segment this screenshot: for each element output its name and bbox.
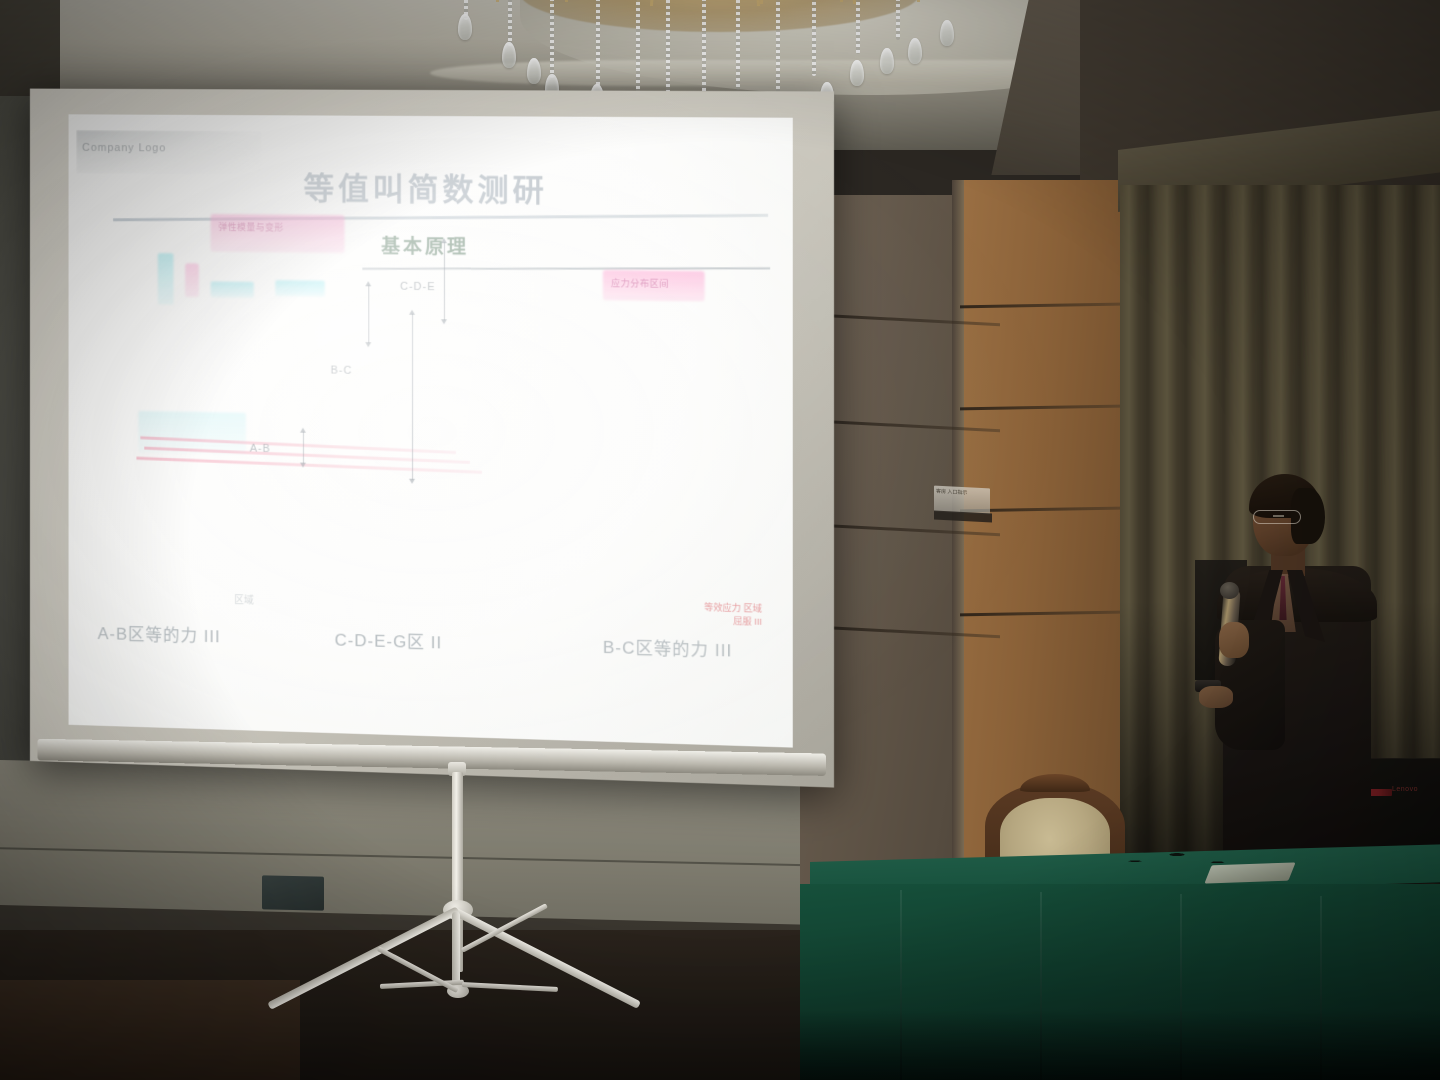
dim-arrow-side xyxy=(368,285,369,343)
slide-subtitle-rule xyxy=(362,267,770,269)
footer-red-line-2: 屈服 III xyxy=(704,614,762,629)
diagram-bar-pink xyxy=(185,263,199,297)
presenter xyxy=(1195,470,1395,890)
presenter-hand-holding-mic xyxy=(1219,622,1249,658)
dim-label-bc: B-C xyxy=(331,365,353,377)
slide-title: 等值叫简数测研 xyxy=(69,162,793,213)
projection-screen-surface[interactable]: Company Logo 等值叫简数测研 基本原理 弹性模量与变形 应力分布区间 xyxy=(69,114,793,747)
chandelier-arm xyxy=(496,0,568,2)
chandelier-crystal xyxy=(908,38,922,64)
chandelier-bead-strand xyxy=(596,0,600,88)
dim-arrow-bc xyxy=(412,314,413,480)
chandelier-bead-strand xyxy=(508,0,512,46)
chandelier-crystal xyxy=(502,42,516,68)
table-shadow xyxy=(800,1010,1440,1080)
projection-screen[interactable]: Company Logo 等值叫简数测研 基本原理 弹性模量与变形 应力分布区间 xyxy=(30,89,834,788)
diagram-bar-cyan xyxy=(211,281,254,297)
footer-item-2: C-D-E-G区 II xyxy=(335,626,443,654)
chandelier-bead-strand xyxy=(896,0,900,40)
chandelier-bead-strand xyxy=(636,0,640,96)
dim-arrow-ab xyxy=(303,432,304,464)
dim-label-ab: A-B xyxy=(250,443,271,455)
wall-outlet-icon xyxy=(262,875,324,910)
wall-sign-text: 客房 入口指示 xyxy=(934,486,990,498)
slide-footer-row: A-B区等的力 III C-D-E-G区 II B-C区等的力 III xyxy=(69,618,793,637)
diagram-bar-cyan xyxy=(158,253,174,305)
footer-red-line-1: 等效应力 区域 xyxy=(704,601,762,616)
slide-logo-text: Company Logo xyxy=(82,142,166,154)
chandelier-crystal xyxy=(850,60,864,86)
footer-item-3: B-C区等的力 III xyxy=(603,633,733,662)
dim-arrow-cde xyxy=(444,242,445,320)
chandelier-crystal xyxy=(940,20,954,46)
microphone-head xyxy=(1220,582,1239,599)
footer-item-1: A-B区等的力 III xyxy=(98,619,221,647)
wood-column-edge xyxy=(952,180,964,900)
chandelier-bead-strand xyxy=(776,0,780,94)
eyeglasses-icon xyxy=(1253,510,1301,524)
chandelier-bead-strand xyxy=(666,0,670,92)
diagram-bar-cyan xyxy=(275,280,324,297)
lenovo-logo-text: Lenovo xyxy=(1392,786,1418,793)
chandelier-arm xyxy=(840,0,920,2)
chandelier-bead-strand xyxy=(856,0,860,54)
slide-subtitle: 基本原理 xyxy=(69,229,793,263)
presenter-hand-lower xyxy=(1199,686,1233,708)
slide-footer-note: 区域 xyxy=(234,591,254,606)
slide-footer-red-text: 等效应力 区域 屈服 III xyxy=(704,601,762,629)
chandelier-bead-strand xyxy=(812,0,816,76)
laptop-on-table[interactable] xyxy=(1204,862,1295,883)
chandelier-bead-strand xyxy=(736,0,740,90)
chandelier-crystal xyxy=(880,48,894,74)
floor-carpet-left xyxy=(0,980,300,1080)
dim-label-cde: C-D-E xyxy=(400,281,435,293)
diagram-tag-a-label: 弹性模量与变形 xyxy=(218,220,283,234)
chandelier-bead-strand xyxy=(550,0,554,78)
diagram-tag-b-label: 应力分布区间 xyxy=(611,276,669,290)
chandelier-crystal xyxy=(527,58,541,84)
chandelier-crystal xyxy=(458,14,472,40)
presentation-room-photo: 客房 入口指示 Company Logo 等值叫简数测研 基本原理 弹性模量与变… xyxy=(0,0,1440,1080)
presentation-slide: Company Logo 等值叫简数测研 基本原理 弹性模量与变形 应力分布区间 xyxy=(69,114,793,747)
chandelier-bead-strand xyxy=(702,0,706,102)
